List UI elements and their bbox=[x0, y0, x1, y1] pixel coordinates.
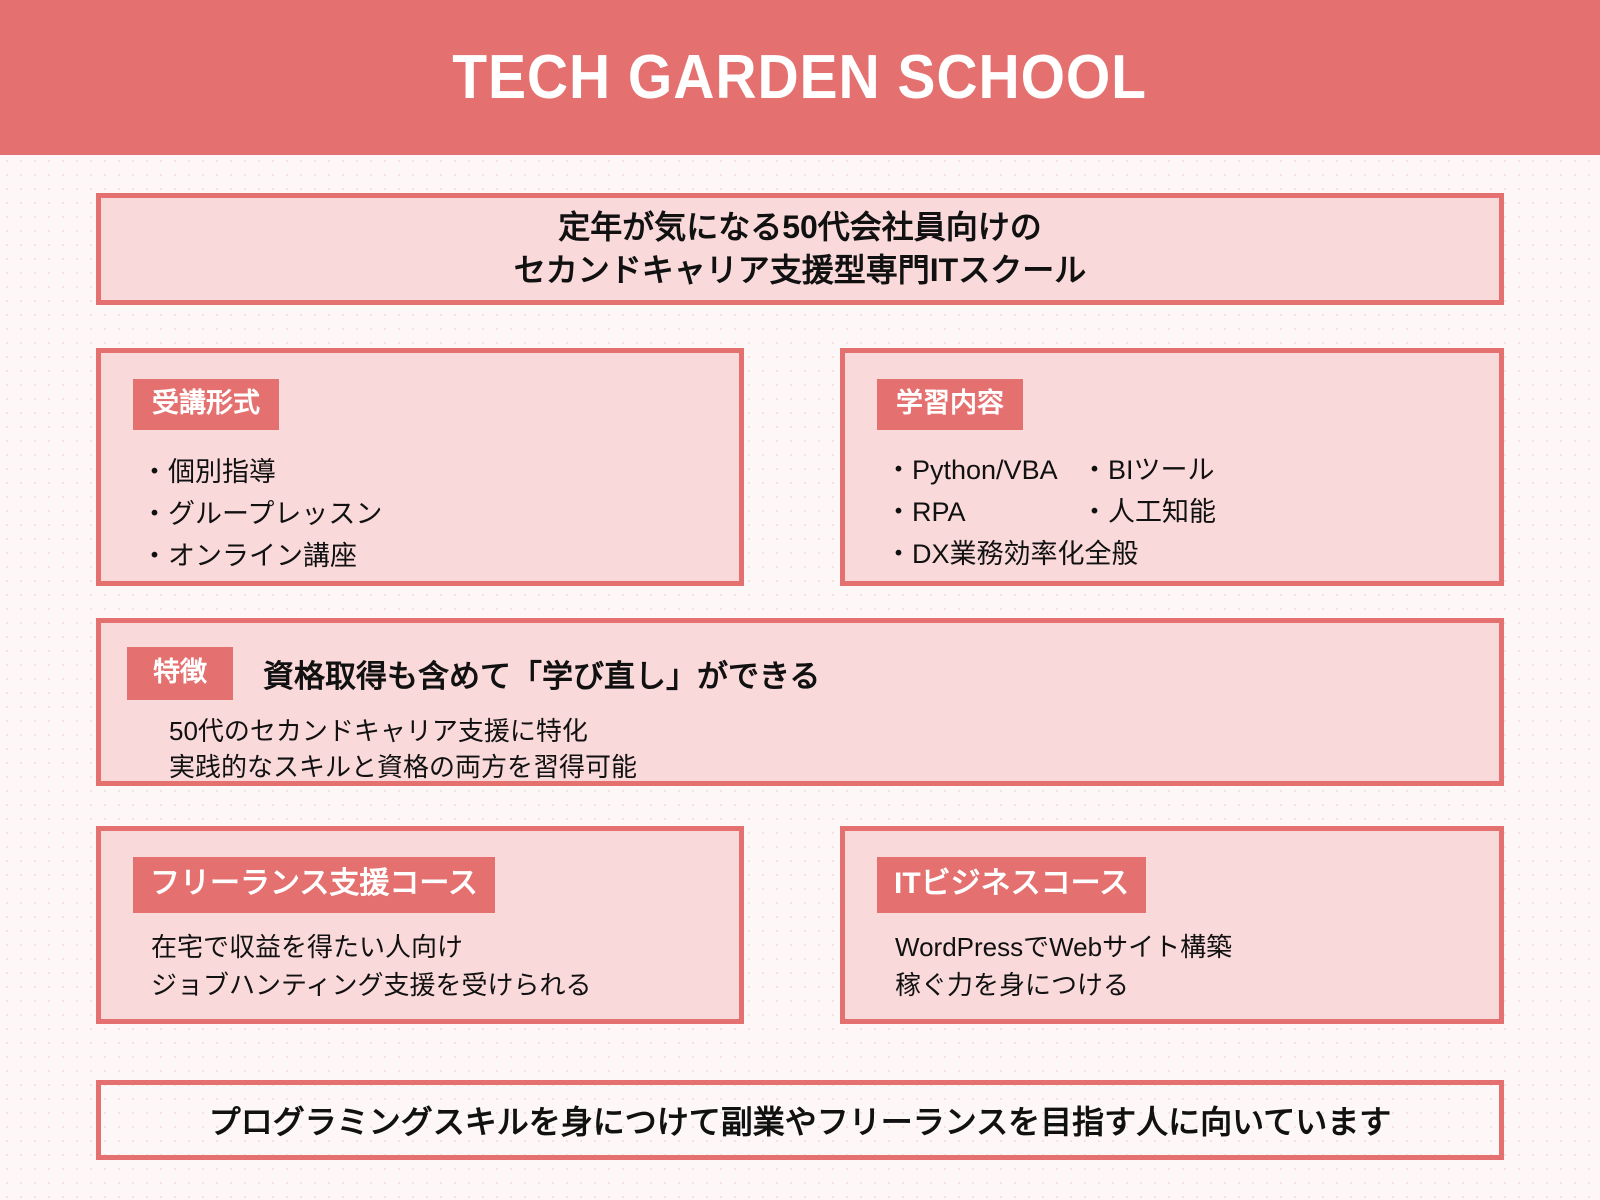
footer-text: プログラミングスキルを身につけて副業やフリーランスを目指す人に向いています bbox=[209, 1097, 1391, 1143]
subtitle-panel: 定年が気になる50代会社員向けの セカンドキャリア支援型専門ITスクール bbox=[96, 193, 1504, 305]
list-item: DX業務効率化全般 bbox=[885, 534, 1499, 576]
list-item: 個別指導 bbox=[141, 452, 739, 494]
business-course-badge: ITビジネスコース bbox=[877, 857, 1146, 913]
business-course-line-2: 稼ぐ力を身につける bbox=[895, 967, 1499, 1005]
feature-body-line-1: 50代のセカンドキャリア支援に特化 bbox=[169, 714, 1499, 750]
page-title: TECH GARDEN SCHOOL bbox=[453, 42, 1148, 113]
freelance-course-line-2: ジョブハンティング支援を受けられる bbox=[151, 967, 739, 1005]
list-item: グループレッスン bbox=[141, 494, 739, 536]
curriculum-badge: 学習内容 bbox=[877, 379, 1023, 430]
list-item: Python/VBA bbox=[885, 450, 1081, 492]
business-course-body: WordPressでWebサイト構築 稼ぐ力を身につける bbox=[895, 929, 1499, 1004]
feature-header: 特徴 資格取得も含めて「学び直し」ができる bbox=[101, 623, 1499, 700]
freelance-course-body: 在宅で収益を得たい人向け ジョブハンティング支援を受けられる bbox=[151, 929, 739, 1004]
list-item: BIツール bbox=[1081, 450, 1499, 492]
curriculum-panel-inner: 学習内容 Python/VBA BIツール RPA 人工知能 DX業務効率化全般 bbox=[845, 353, 1499, 576]
freelance-course-inner: フリーランス支援コース 在宅で収益を得たい人向け ジョブハンティング支援を受けら… bbox=[101, 831, 739, 1004]
format-badge: 受講形式 bbox=[133, 379, 279, 430]
page-header: TECH GARDEN SCHOOL bbox=[0, 0, 1600, 155]
freelance-course-line-1: 在宅で収益を得たい人向け bbox=[151, 929, 739, 967]
list-item: 人工知能 bbox=[1081, 492, 1499, 534]
curriculum-list: Python/VBA BIツール RPA 人工知能 DX業務効率化全般 bbox=[885, 450, 1499, 576]
format-panel-inner: 受講形式 個別指導 グループレッスン オンライン講座 bbox=[101, 353, 739, 578]
feature-body-line-2: 実践的なスキルと資格の両方を習得可能 bbox=[169, 750, 1499, 786]
feature-title: 資格取得も含めて「学び直し」ができる bbox=[263, 651, 820, 696]
list-item: RPA bbox=[885, 492, 1081, 534]
feature-badge: 特徴 bbox=[127, 647, 233, 700]
footer-panel: プログラミングスキルを身につけて副業やフリーランスを目指す人に向いています bbox=[96, 1080, 1504, 1160]
curriculum-panel: 学習内容 Python/VBA BIツール RPA 人工知能 DX業務効率化全般 bbox=[840, 348, 1504, 586]
feature-panel: 特徴 資格取得も含めて「学び直し」ができる 50代のセカンドキャリア支援に特化 … bbox=[96, 618, 1504, 786]
format-list: 個別指導 グループレッスン オンライン講座 bbox=[141, 452, 739, 578]
format-panel: 受講形式 個別指導 グループレッスン オンライン講座 bbox=[96, 348, 744, 586]
freelance-course-panel: フリーランス支援コース 在宅で収益を得たい人向け ジョブハンティング支援を受けら… bbox=[96, 826, 744, 1024]
business-course-panel: ITビジネスコース WordPressでWebサイト構築 稼ぐ力を身につける bbox=[840, 826, 1504, 1024]
list-item: オンライン講座 bbox=[141, 536, 739, 578]
freelance-course-badge: フリーランス支援コース bbox=[133, 857, 495, 913]
subtitle-line-1: 定年が気になる50代会社員向けの bbox=[558, 206, 1042, 249]
business-course-line-1: WordPressでWebサイト構築 bbox=[895, 929, 1499, 967]
feature-body: 50代のセカンドキャリア支援に特化 実践的なスキルと資格の両方を習得可能 bbox=[169, 714, 1499, 786]
subtitle-line-2: セカンドキャリア支援型専門ITスクール bbox=[514, 249, 1086, 292]
business-course-inner: ITビジネスコース WordPressでWebサイト構築 稼ぐ力を身につける bbox=[845, 831, 1499, 1004]
